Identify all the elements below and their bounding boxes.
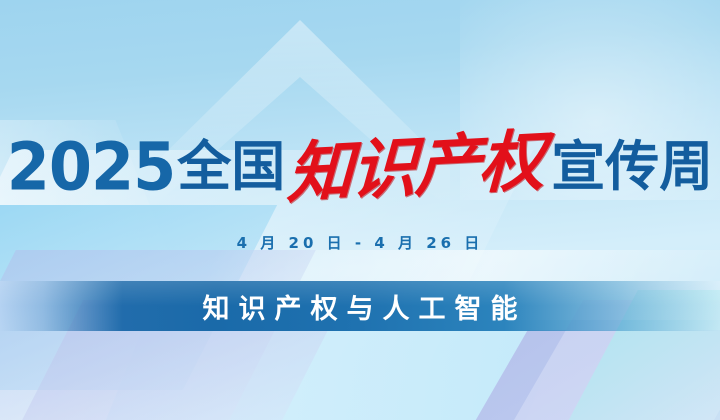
headline-year: 2025 bbox=[7, 134, 176, 200]
decoration-lavender-slab-large bbox=[412, 330, 720, 420]
decoration-parallelogram-lavender bbox=[0, 250, 316, 420]
ip-week-promo-banner: 2025 全国 知识产权 宣传周 4 月 20 日 - 4 月 26 日 知识产… bbox=[0, 0, 720, 420]
subtitle-theme-text: 知识产权与人工智能 bbox=[194, 287, 527, 326]
headline-emphasis-calligraphy: 知识产权 bbox=[286, 127, 544, 207]
headline-suffix: 宣传周 bbox=[551, 140, 713, 194]
event-date-range: 4 月 20 日 - 4 月 26 日 bbox=[0, 232, 720, 253]
decoration-pale-mid-band bbox=[98, 330, 562, 420]
banner-headline: 2025 全国 知识产权 宣传周 bbox=[0, 126, 720, 208]
subtitle-band: 知识产权与人工智能 bbox=[0, 281, 720, 331]
headline-prefix: 全国 bbox=[177, 140, 285, 194]
